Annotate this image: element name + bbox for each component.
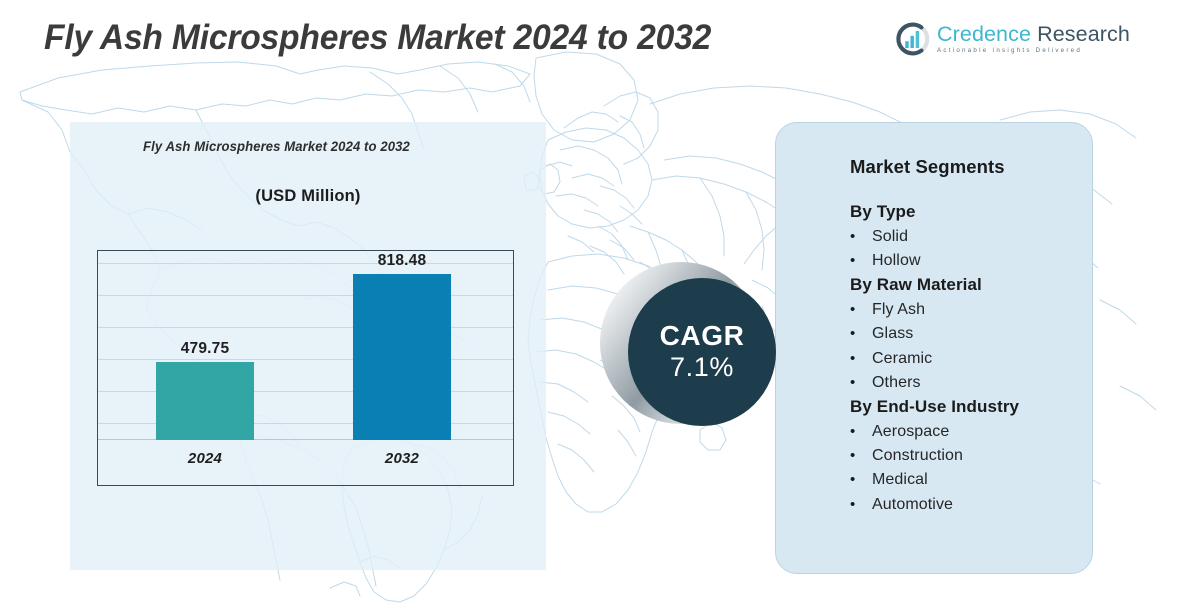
bullet-icon: • <box>850 421 872 444</box>
chart-title: Fly Ash Microspheres Market 2024 to 2032 <box>143 139 410 154</box>
brand-logo: Credence Research Actionable Insights De… <box>894 21 1130 57</box>
bar-category-label: 2032 <box>327 450 477 467</box>
segment-item-label: Solid <box>872 225 908 249</box>
brand-tagline: Actionable Insights Delivered <box>937 48 1130 54</box>
chart-panel: Fly Ash Microspheres Market 2024 to 2032… <box>70 122 546 570</box>
segment-list-item[interactable]: •Glass <box>850 322 1092 346</box>
cagr-badge: CAGR 7.1% <box>600 262 776 438</box>
bullet-icon: • <box>850 250 872 273</box>
bar-category-label: 2024 <box>130 450 280 467</box>
brand-logo-text: Credence Research Actionable Insights De… <box>937 24 1130 55</box>
bar-2032[interactable] <box>353 274 451 440</box>
segment-item-label: Aerospace <box>872 420 949 444</box>
segment-item-label: Medical <box>872 468 928 492</box>
bullet-icon: • <box>850 323 872 346</box>
page-title: Fly Ash Microspheres Market 2024 to 2032 <box>44 18 711 58</box>
bullet-icon: • <box>850 299 872 322</box>
chart-units-label: (USD Million) <box>70 187 546 206</box>
segment-list-item[interactable]: •Construction <box>850 444 1092 468</box>
chart-plot-area: 479.75 2024 818.48 2032 <box>97 250 514 486</box>
segment-group-title: By Raw Material <box>850 273 1092 298</box>
market-segments-panel: Market Segments By Type•Solid•HollowBy R… <box>775 122 1093 574</box>
brand-word-research: Research <box>1031 22 1130 46</box>
bullet-icon: • <box>850 494 872 517</box>
bar-category-2032: 2032 <box>353 440 451 485</box>
bar-category-2024: 2024 <box>156 440 254 485</box>
segment-item-label: Fly Ash <box>872 298 925 322</box>
segment-item-label: Automotive <box>872 493 953 517</box>
bullet-icon: • <box>850 469 872 492</box>
segment-list-item[interactable]: •Aerospace <box>850 420 1092 444</box>
bullet-icon: • <box>850 372 872 395</box>
cagr-circle: CAGR 7.1% <box>628 278 776 426</box>
segment-item-label: Others <box>872 371 921 395</box>
segment-list-item[interactable]: •Others <box>850 371 1092 395</box>
brand-logo-wordmark: Credence Research <box>937 24 1130 46</box>
market-segments-list: By Type•Solid•HollowBy Raw Material•Fly … <box>850 200 1092 517</box>
segment-item-label: Glass <box>872 322 913 346</box>
segment-list-item[interactable]: •Ceramic <box>850 347 1092 371</box>
segment-group-title: By Type <box>850 200 1092 225</box>
bullet-icon: • <box>850 445 872 468</box>
segment-list-item[interactable]: •Medical <box>850 468 1092 492</box>
bullet-icon: • <box>850 226 872 249</box>
cagr-value: 7.1% <box>670 352 734 383</box>
bullet-icon: • <box>850 348 872 371</box>
market-segments-title: Market Segments <box>850 156 1092 178</box>
segment-item-label: Ceramic <box>872 347 932 371</box>
bar-value-label: 479.75 <box>130 340 280 358</box>
segment-list-item[interactable]: •Fly Ash <box>850 298 1092 322</box>
segment-list-item[interactable]: •Hollow <box>850 249 1092 273</box>
segment-list-item[interactable]: •Automotive <box>850 493 1092 517</box>
brand-word-credence: Credence <box>937 22 1031 46</box>
credence-circle-bars-icon <box>894 21 930 57</box>
cagr-label: CAGR <box>660 321 745 350</box>
segment-item-label: Construction <box>872 444 963 468</box>
segment-item-label: Hollow <box>872 249 921 273</box>
segment-group-title: By End-Use Industry <box>850 395 1092 420</box>
bar-value-label: 818.48 <box>327 252 477 270</box>
bar-2024[interactable] <box>156 362 254 440</box>
segment-list-item[interactable]: •Solid <box>850 225 1092 249</box>
